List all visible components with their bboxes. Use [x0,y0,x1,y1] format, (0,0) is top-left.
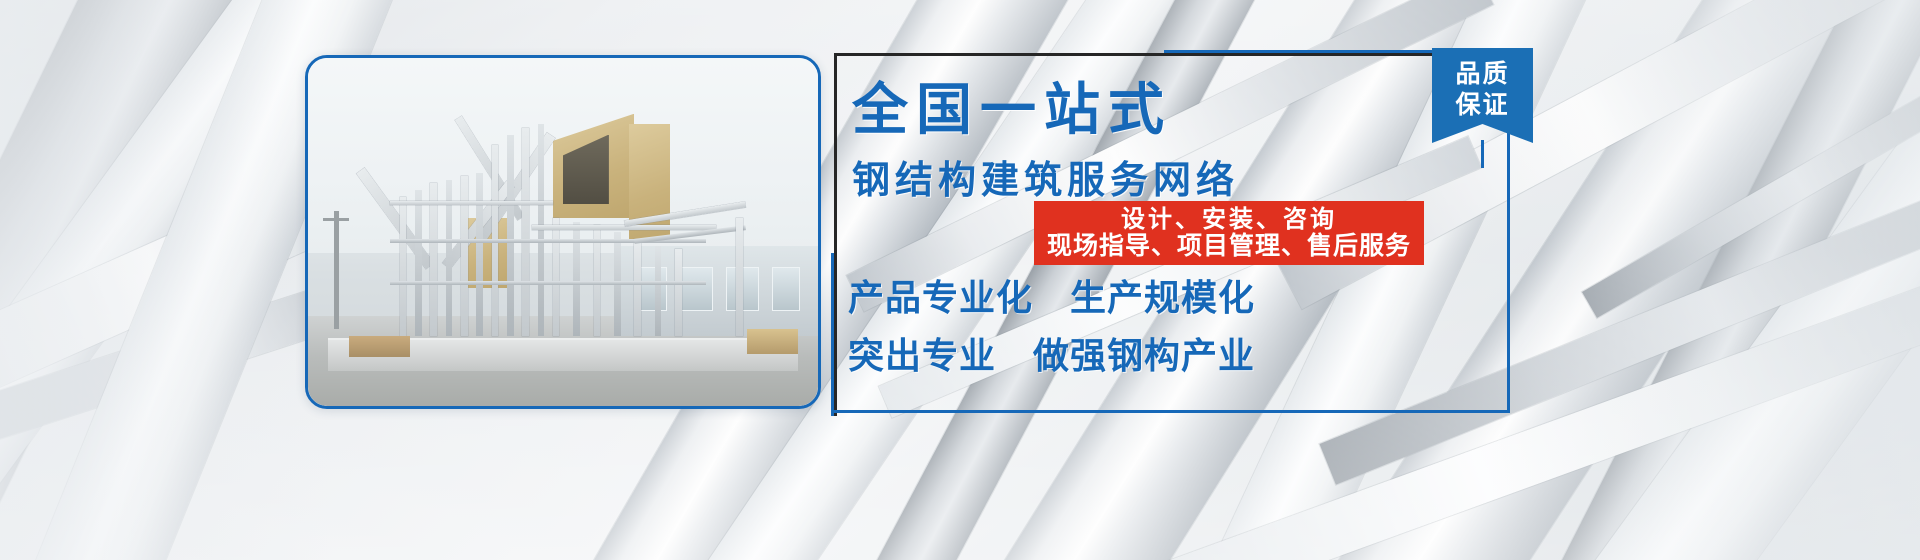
banner-root: 全国一站式 钢结构建筑服务网络 设计、安装、咨询 现场指导、项目管理、售后服务 … [0,0,1920,560]
services-box: 设计、安装、咨询 现场指导、项目管理、售后服务 [1034,201,1424,265]
slogan-2: 突出专业 做强钢构产业 [848,339,1255,375]
photo-stud [655,246,662,336]
background-fade-right [1490,0,1920,560]
photo-stud [675,249,682,336]
photo-stud [634,239,641,336]
text-panel: 全国一站式 钢结构建筑服务网络 设计、安装、咨询 现场指导、项目管理、售后服务 … [834,53,1510,413]
slogan-1: 产品专业化 生产规模化 [848,281,1255,317]
photo-stud [538,124,545,336]
photo-stud [522,128,529,337]
photo-post [736,218,742,336]
photo-stud [476,173,483,337]
badge-stem [1481,140,1484,168]
photo-inner [308,58,818,406]
photo-stud [507,135,514,337]
headline: 全国一站式 [852,83,1152,139]
badge-line-1: 品质 [1455,59,1509,90]
services-line-1: 设计、安装、咨询 [1121,207,1337,233]
photo-stud [553,218,560,336]
photo-debris [349,336,410,357]
photo-rail [390,281,706,285]
subtitle: 钢结构建筑服务网络 [852,161,1239,199]
photo-utility-pole-arm [323,218,349,221]
photo-window [772,267,800,311]
panel-content: 全国一站式 钢结构建筑服务网络 设计、安装、咨询 现场指导、项目管理、售后服务 … [834,53,1510,413]
photo-stud [400,197,407,336]
photo-utility-pole [334,211,339,329]
photo-material-stack [747,329,798,353]
photo-stud [430,183,437,336]
photo-stud [415,190,422,336]
photo-window [680,267,713,311]
construction-photo [305,55,821,409]
badge-line-2: 保证 [1455,90,1509,121]
background-fade-left [0,0,330,560]
photo-rail [390,201,553,205]
services-line-2: 现场指导、项目管理、售后服务 [1047,232,1411,259]
